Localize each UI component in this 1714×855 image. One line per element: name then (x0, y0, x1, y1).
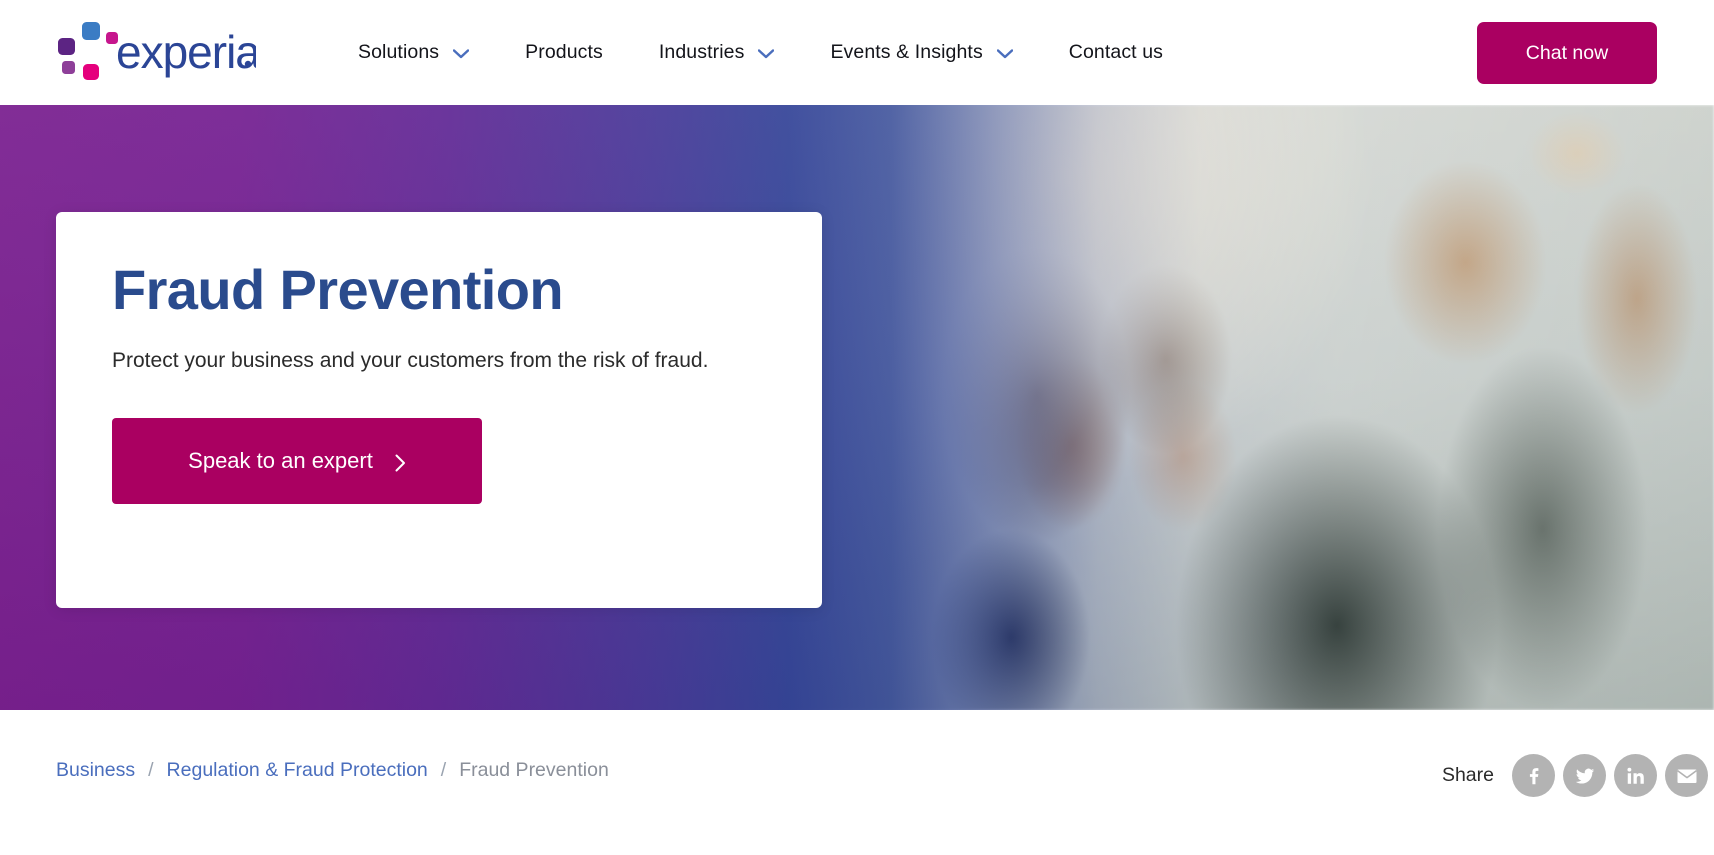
nav-label: Solutions (358, 41, 439, 64)
chevron-right-icon (395, 452, 406, 470)
hero-subtitle: Protect your business and your customers… (112, 343, 737, 379)
chevron-down-icon (997, 49, 1013, 59)
hero-content-card: Fraud Prevention Protect your business a… (56, 212, 822, 608)
main-navigation: Solutions Products Industries Events & I… (330, 0, 1191, 105)
share-label: Share (1442, 764, 1494, 787)
cta-label: Speak to an expert (188, 448, 373, 474)
twitter-icon[interactable] (1563, 754, 1606, 797)
nav-label: Industries (659, 41, 745, 64)
svg-text:experian: experian (116, 26, 256, 78)
breadcrumb-item-business[interactable]: Business (56, 759, 135, 782)
breadcrumb-separator: / (441, 759, 446, 782)
share-group: Share (1442, 754, 1708, 797)
nav-label: Events & Insights (830, 41, 982, 64)
nav-label: Contact us (1069, 41, 1163, 64)
nav-item-events-insights[interactable]: Events & Insights (802, 0, 1040, 105)
site-header: experian Solutions Products Industries E… (0, 0, 1714, 105)
facebook-icon[interactable] (1512, 754, 1555, 797)
experian-logo-svg: experian (56, 20, 256, 84)
breadcrumb-item-current: Fraud Prevention (459, 759, 609, 782)
email-icon[interactable] (1665, 754, 1708, 797)
linkedin-icon[interactable] (1614, 754, 1657, 797)
experian-logo[interactable]: experian (56, 16, 266, 88)
breadcrumb-item-regulation-fraud-protection[interactable]: Regulation & Fraud Protection (167, 759, 428, 782)
nav-item-industries[interactable]: Industries (631, 0, 803, 105)
chevron-down-icon (453, 49, 469, 59)
page-title: Fraud Prevention (112, 260, 766, 319)
breadcrumb: Business / Regulation & Fraud Protection… (56, 759, 609, 782)
speak-to-an-expert-button[interactable]: Speak to an expert (112, 418, 482, 504)
hero-banner: Fraud Prevention Protect your business a… (0, 105, 1714, 710)
nav-item-products[interactable]: Products (497, 0, 631, 105)
breadcrumb-separator: / (148, 759, 153, 782)
breadcrumb-bar: Business / Regulation & Fraud Protection… (0, 710, 1714, 855)
nav-item-contact-us[interactable]: Contact us (1041, 0, 1191, 105)
chat-now-button[interactable]: Chat now (1477, 22, 1657, 84)
nav-label: Products (525, 41, 603, 64)
chevron-down-icon (758, 49, 774, 59)
nav-item-solutions[interactable]: Solutions (330, 0, 497, 105)
